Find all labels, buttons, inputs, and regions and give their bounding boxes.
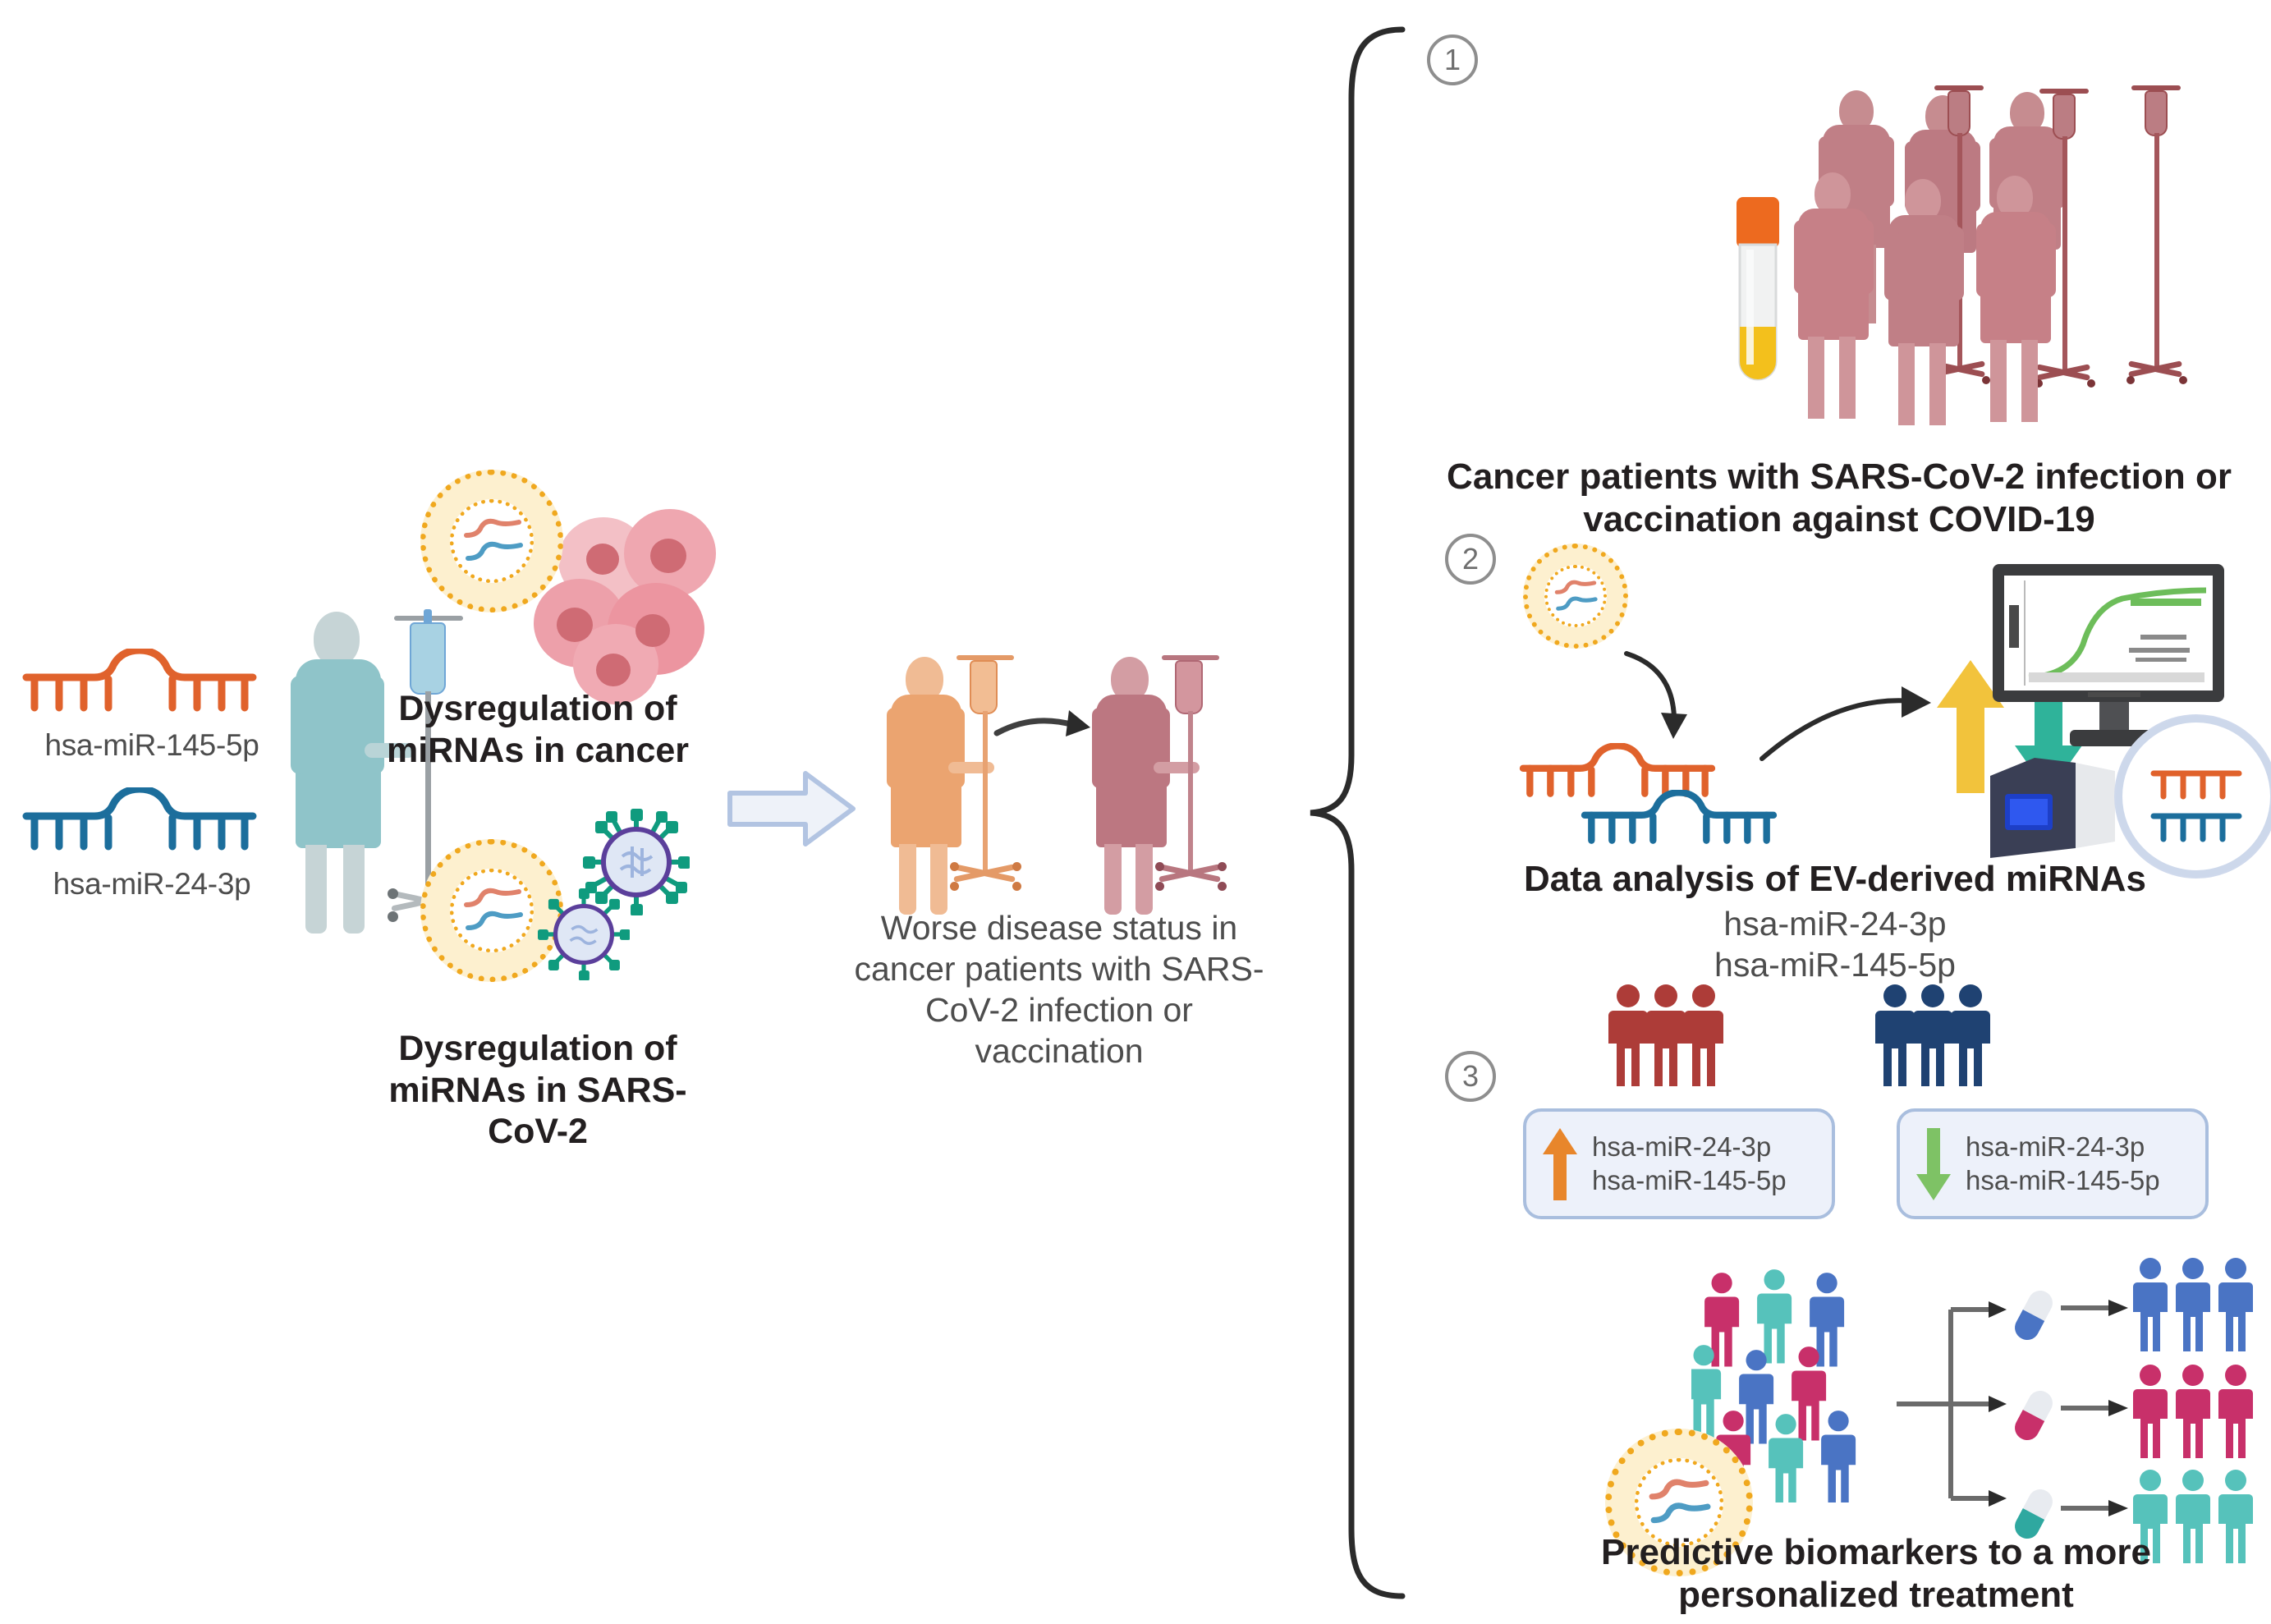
blood-collection-tube-icon xyxy=(1728,197,1787,406)
iv-drip-stand-icon xyxy=(948,650,1030,913)
mirna-name: hsa-miR-145-5p xyxy=(1966,1164,2160,1198)
block-arrow-right-icon xyxy=(727,764,858,858)
curved-arrow-down-icon xyxy=(1622,649,1712,751)
step-number-2: 2 xyxy=(1445,534,1496,585)
mirna-name: hsa-miR-145-5p xyxy=(1592,1164,1787,1198)
people-group-upregulated xyxy=(1605,981,1769,1100)
step-number-1: 1 xyxy=(1427,34,1478,85)
extracellular-vesicle-icon xyxy=(420,470,563,612)
patient-figure xyxy=(1888,179,1995,425)
mirna-hairpin-icon xyxy=(16,787,263,863)
arrow-right-icon xyxy=(2061,1496,2135,1525)
mirna-strand-icon xyxy=(460,880,525,943)
patient-figure xyxy=(1980,176,2087,422)
caption-step-1: Cancer patients with SARS-CoV-2 infectio… xyxy=(1437,456,2241,541)
treated-cohort-pink xyxy=(2131,1363,2271,1474)
caption-dysregulation-sars: Dysregulation of miRNAs in SARS- CoV-2 xyxy=(374,1028,702,1153)
mirna-hairpin-icon xyxy=(16,649,263,724)
caption-step-3: Predictive biomarkers to a more personal… xyxy=(1552,1531,2200,1617)
caption-worse-disease-status: Worse disease status in cancer patients … xyxy=(825,907,1293,1071)
up-arrow-icon xyxy=(1541,1126,1579,1202)
mirna-legend-item: hsa-miR-145-5p xyxy=(16,649,287,763)
mirna-name: hsa-miR-145-5p xyxy=(16,728,287,763)
down-arrow-icon xyxy=(1915,1126,1952,1202)
patient-group-icon xyxy=(1806,82,2225,427)
curly-brace-icon xyxy=(1305,25,1412,1605)
caption-dysregulation-cancer: Dysregulation of miRNAs in cancer xyxy=(374,688,702,771)
mirna-legend: hsa-miR-145-5p hsa-miR-24-3p xyxy=(16,649,287,926)
caption-step-2: Data analysis of EV-derived miRNAs xyxy=(1457,858,2213,901)
treated-cohort-blue xyxy=(2131,1256,2271,1367)
mirna-name: hsa-miR-24-3p xyxy=(1592,1131,1787,1164)
mirna-box-downregulated: hsa-miR-24-3p hsa-miR-145-5p xyxy=(1897,1108,2209,1219)
curved-arrow-right-icon xyxy=(1757,673,1946,776)
mirna-legend-item: hsa-miR-24-3p xyxy=(16,787,287,901)
iv-drip-stand-icon xyxy=(1154,650,1236,913)
arrow-right-icon xyxy=(2061,1396,2135,1424)
sars-cov-2-virion-icon xyxy=(538,888,630,980)
step-number-3: 3 xyxy=(1445,1051,1496,1102)
curved-arrow-right-icon xyxy=(993,702,1100,764)
mirna-box-upregulated: hsa-miR-24-3p hsa-miR-145-5p xyxy=(1523,1108,1835,1219)
arrow-right-icon xyxy=(2061,1296,2135,1324)
mirna-strand-icon xyxy=(460,511,525,573)
mirna-strand-icon xyxy=(1645,1471,1714,1535)
sequencer-icon xyxy=(1985,743,2125,870)
extracellular-vesicle-icon xyxy=(1523,544,1628,649)
magnifier-icon xyxy=(2114,714,2271,879)
mirna-name: hsa-miR-24-3p xyxy=(16,867,287,901)
mirna-hairpin-icon xyxy=(1576,790,1782,860)
mirna-strand-icon xyxy=(1552,575,1599,619)
mirna-name: hsa-miR-24-3p xyxy=(1966,1131,2160,1164)
step-2-mirna-list: hsa-miR-24-3p hsa-miR-145-5p xyxy=(1457,903,2213,985)
iv-drip-stand-icon xyxy=(2126,82,2200,411)
people-group-downregulated xyxy=(1872,981,2036,1100)
